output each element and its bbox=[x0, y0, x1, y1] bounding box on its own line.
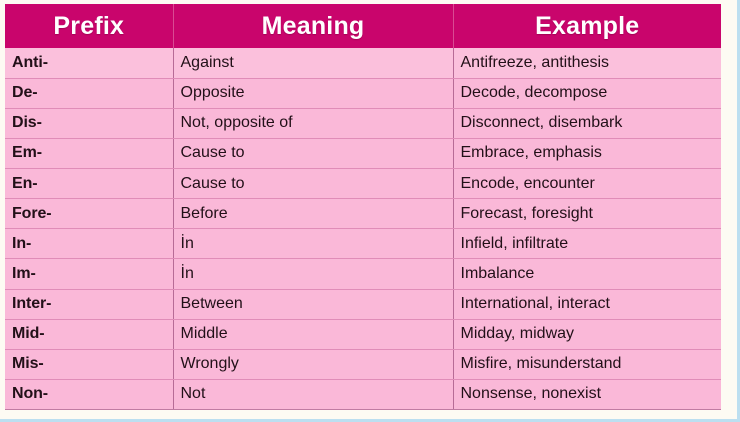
table-row: Em- Cause to Embrace, emphasis bbox=[5, 138, 721, 168]
cell-example: Encode, encounter bbox=[453, 169, 721, 199]
table-header: Prefix Meaning Example bbox=[5, 4, 721, 48]
cell-meaning: Cause to bbox=[173, 138, 453, 168]
prefix-table-container: Prefix Meaning Example Anti- Against Ant… bbox=[5, 4, 721, 410]
table-row: Fore- Before Forecast, foresight bbox=[5, 199, 721, 229]
column-header-prefix: Prefix bbox=[5, 4, 173, 48]
prefix-table: Prefix Meaning Example Anti- Against Ant… bbox=[5, 4, 721, 410]
cell-meaning: Against bbox=[173, 48, 453, 78]
cell-example: Midday, midway bbox=[453, 319, 721, 349]
header-row: Prefix Meaning Example bbox=[5, 4, 721, 48]
cell-example: International, interact bbox=[453, 289, 721, 319]
column-header-example: Example bbox=[453, 4, 721, 48]
cell-prefix: Fore- bbox=[5, 199, 173, 229]
table-body: Anti- Against Antifreeze, antithesis De-… bbox=[5, 48, 721, 410]
table-row: Im- İn Imbalance bbox=[5, 259, 721, 289]
cell-meaning: Not, opposite of bbox=[173, 108, 453, 138]
cell-prefix: Inter- bbox=[5, 289, 173, 319]
cell-prefix: Anti- bbox=[5, 48, 173, 78]
table-row: Inter- Between International, interact bbox=[5, 289, 721, 319]
cell-example: Forecast, foresight bbox=[453, 199, 721, 229]
cell-prefix: Em- bbox=[5, 138, 173, 168]
cell-prefix: In- bbox=[5, 229, 173, 259]
cell-meaning: Wrongly bbox=[173, 349, 453, 379]
column-header-meaning: Meaning bbox=[173, 4, 453, 48]
cell-example: Imbalance bbox=[453, 259, 721, 289]
table-row: Non- Not Nonsense, nonexist bbox=[5, 379, 721, 409]
cell-meaning: İn bbox=[173, 229, 453, 259]
table-row: Mis- Wrongly Misfire, misunderstand bbox=[5, 349, 721, 379]
table-row: In- İn Infield, infiltrate bbox=[5, 229, 721, 259]
cell-prefix: De- bbox=[5, 78, 173, 108]
cell-example: Antifreeze, antithesis bbox=[453, 48, 721, 78]
cell-example: Disconnect, disembark bbox=[453, 108, 721, 138]
table-row: De- Opposite Decode, decompose bbox=[5, 78, 721, 108]
cell-prefix: En- bbox=[5, 169, 173, 199]
cell-example: Nonsense, nonexist bbox=[453, 379, 721, 409]
cell-example: Decode, decompose bbox=[453, 78, 721, 108]
table-row: En- Cause to Encode, encounter bbox=[5, 169, 721, 199]
cell-meaning: Middle bbox=[173, 319, 453, 349]
cell-prefix: Dis- bbox=[5, 108, 173, 138]
cell-prefix: Mis- bbox=[5, 349, 173, 379]
cell-example: Infield, infiltrate bbox=[453, 229, 721, 259]
table-row: Anti- Against Antifreeze, antithesis bbox=[5, 48, 721, 78]
cell-prefix: Mid- bbox=[5, 319, 173, 349]
cell-meaning: Between bbox=[173, 289, 453, 319]
cell-prefix: Im- bbox=[5, 259, 173, 289]
cell-meaning: İn bbox=[173, 259, 453, 289]
cell-example: Embrace, emphasis bbox=[453, 138, 721, 168]
screenshot-canvas: Prefix Meaning Example Anti- Against Ant… bbox=[0, 0, 740, 422]
cell-meaning: Cause to bbox=[173, 169, 453, 199]
table-row: Mid- Middle Midday, midway bbox=[5, 319, 721, 349]
cell-meaning: Before bbox=[173, 199, 453, 229]
cell-example: Misfire, misunderstand bbox=[453, 349, 721, 379]
cell-prefix: Non- bbox=[5, 379, 173, 409]
cell-meaning: Not bbox=[173, 379, 453, 409]
cell-meaning: Opposite bbox=[173, 78, 453, 108]
table-row: Dis- Not, opposite of Disconnect, disemb… bbox=[5, 108, 721, 138]
